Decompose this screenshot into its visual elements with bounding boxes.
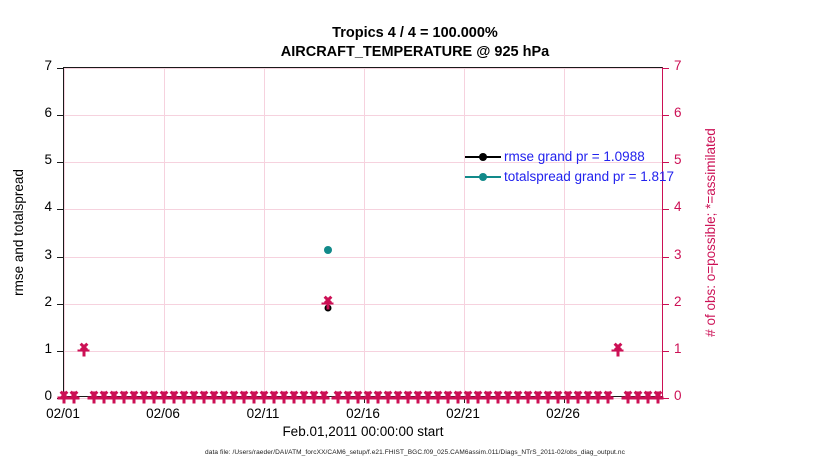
x-tick-label: 02/01 (23, 406, 103, 421)
obs-star-marker (204, 398, 205, 399)
obs-star-marker (64, 398, 65, 399)
obs-star-marker (558, 398, 559, 399)
legend: rmse grand pr = 1.0988totalspread grand … (465, 148, 674, 185)
obs-star-marker (448, 398, 449, 399)
obs-star-marker (164, 398, 165, 399)
obs-star-marker (358, 398, 359, 399)
obs-star-marker (398, 398, 399, 399)
obs-star-marker (224, 398, 225, 399)
obs-star-marker (538, 398, 539, 399)
obs-star-marker (408, 398, 409, 399)
obs-star-marker (234, 398, 235, 399)
obs-star-marker (328, 303, 329, 304)
y-tick-left (57, 351, 64, 352)
obs-star-marker (478, 398, 479, 399)
obs-star-marker (184, 398, 185, 399)
obs-star-marker (284, 398, 285, 399)
obs-star-marker (618, 350, 619, 351)
y-tick-label-right: 3 (674, 247, 714, 262)
obs-star-marker (418, 398, 419, 399)
obs-star-marker (598, 398, 599, 399)
legend-label: totalspread grand pr = 1.817 (504, 169, 674, 184)
obs-star-marker (428, 398, 429, 399)
y-tick-label-left: 3 (12, 247, 52, 262)
obs-star-marker (74, 398, 75, 399)
obs-star-marker (388, 398, 389, 399)
obs-star-marker (194, 398, 195, 399)
obs-star-marker (338, 398, 339, 399)
y-tick-right (662, 351, 669, 352)
obs-star-marker (458, 398, 459, 399)
obs-star-marker (578, 398, 579, 399)
y-tick-right (662, 68, 669, 69)
obs-star-marker (438, 398, 439, 399)
y-tick-left (57, 304, 64, 305)
data-file-footer: data file: /Users/raeder/DAI/ATM_forcXX/… (0, 449, 830, 456)
obs-star-marker (324, 398, 325, 399)
obs-star-marker (498, 398, 499, 399)
y-tick-label-left: 2 (12, 294, 52, 309)
obs-star-marker (94, 398, 95, 399)
obs-star-marker (378, 398, 379, 399)
obs-star-marker (368, 398, 369, 399)
y-tick-left (57, 115, 64, 116)
obs-star-marker (104, 398, 105, 399)
x-tick-label: 02/16 (323, 406, 403, 421)
y-tick-right (662, 304, 669, 305)
obs-star-marker (528, 398, 529, 399)
x-tick-label: 02/11 (223, 406, 303, 421)
legend-marker-icon (465, 170, 501, 184)
obs-star-marker (648, 398, 649, 399)
obs-star-marker (658, 398, 659, 399)
obs-star-marker (144, 398, 145, 399)
y-tick-label-right: 6 (674, 105, 714, 120)
y-tick-label-left: 7 (12, 58, 52, 73)
obs-star-marker (314, 398, 315, 399)
obs-star-marker (348, 398, 349, 399)
y-tick-right (662, 209, 669, 210)
observation-diagnostics-figure: Tropics 4 / 4 = 100.000% AIRCRAFT_TEMPER… (0, 0, 830, 470)
totalspread-point (324, 246, 332, 254)
plot-area: rmse grand pr = 1.0988totalspread grand … (63, 67, 663, 397)
obs-star-marker (84, 350, 85, 351)
y-tick-right (662, 115, 669, 116)
y-tick-label-right: 1 (674, 341, 714, 356)
obs-star-marker (264, 398, 265, 399)
x-tick-label: 02/21 (423, 406, 503, 421)
y-tick-left (57, 68, 64, 69)
obs-star-marker (154, 398, 155, 399)
y-tick-left (57, 162, 64, 163)
y-tick-label-right: 0 (674, 388, 714, 403)
obs-star-marker (608, 398, 609, 399)
y-tick-label-right: 4 (674, 199, 714, 214)
y-tick-label-right: 2 (674, 294, 714, 309)
obs-star-marker (124, 398, 125, 399)
y-tick-right (662, 257, 669, 258)
figure-title: Tropics 4 / 4 = 100.000% AIRCRAFT_TEMPER… (0, 24, 830, 62)
obs-star-marker (508, 398, 509, 399)
obs-star-marker (548, 398, 549, 399)
y-tick-left (57, 257, 64, 258)
obs-star-marker (174, 398, 175, 399)
obs-star-marker (134, 398, 135, 399)
x-tick-label: 02/06 (123, 406, 203, 421)
y-tick-label-right: 7 (674, 58, 714, 73)
y-tick-label-left: 0 (12, 388, 52, 403)
obs-star-marker (214, 398, 215, 399)
left-axis-title-text: rmse and totalspread (11, 169, 26, 296)
obs-star-marker (518, 398, 519, 399)
title-line-1: Tropics 4 / 4 = 100.000% (0, 24, 830, 43)
obs-star-marker (304, 398, 305, 399)
x-tick-label: 02/26 (523, 406, 603, 421)
obs-star-marker (254, 398, 255, 399)
y-tick-left (57, 209, 64, 210)
y-tick-label-left: 1 (12, 341, 52, 356)
obs-star-marker (294, 398, 295, 399)
y-tick-label-right: 5 (674, 152, 714, 167)
obs-star-marker (488, 398, 489, 399)
y-tick-label-left: 4 (12, 199, 52, 214)
obs-star-marker (588, 398, 589, 399)
legend-label: rmse grand pr = 1.0988 (504, 149, 645, 164)
y-tick-label-left: 5 (12, 152, 52, 167)
obs-star-marker (244, 398, 245, 399)
obs-star-marker (638, 398, 639, 399)
x-axis-title: Feb.01,2011 00:00:00 start (63, 424, 663, 439)
data-layer (64, 68, 662, 396)
obs-star-marker (114, 398, 115, 399)
obs-star-marker (274, 398, 275, 399)
obs-star-marker (568, 398, 569, 399)
legend-marker-icon (465, 150, 501, 164)
obs-star-marker (468, 398, 469, 399)
y-tick-label-left: 6 (12, 105, 52, 120)
legend-entry: rmse grand pr = 1.0988 (465, 148, 674, 165)
legend-entry: totalspread grand pr = 1.817 (465, 168, 674, 185)
obs-star-marker (628, 398, 629, 399)
